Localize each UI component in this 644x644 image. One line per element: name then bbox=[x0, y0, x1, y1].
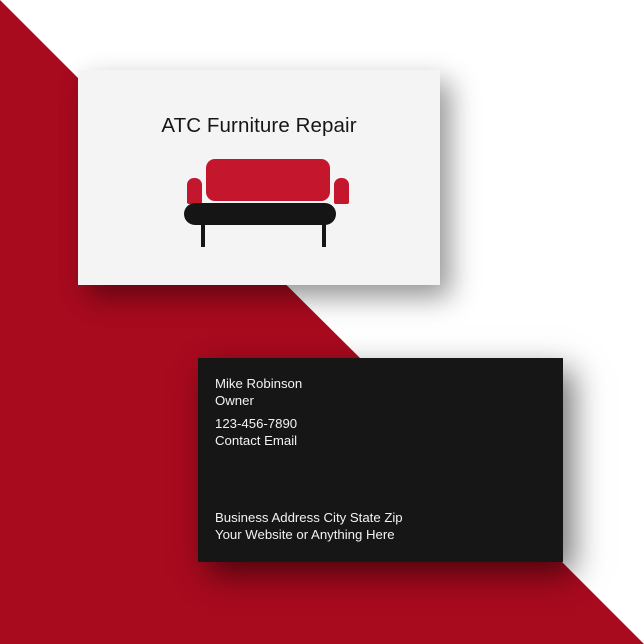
business-card-front[interactable]: ATC Furniture Repair bbox=[78, 70, 440, 285]
sofa-left-leg-shape bbox=[201, 221, 205, 247]
contact-person-title: Owner bbox=[215, 393, 302, 410]
sofa-backrest-shape bbox=[206, 159, 330, 201]
business-card-back[interactable]: Mike Robinson Owner 123-456-7890 Contact… bbox=[198, 358, 563, 562]
address-block: Business Address City State Zip Your Web… bbox=[215, 510, 403, 543]
contact-name-block: Mike Robinson Owner bbox=[215, 376, 302, 409]
sofa-left-arm-shape bbox=[187, 178, 202, 204]
contact-details-block: 123-456-7890 Contact Email bbox=[215, 416, 297, 449]
business-address: Business Address City State Zip bbox=[215, 510, 403, 527]
sofa-right-leg-shape bbox=[322, 221, 326, 247]
business-website[interactable]: Your Website or Anything Here bbox=[215, 527, 403, 544]
sofa-seat-shape bbox=[184, 203, 336, 225]
sofa-icon bbox=[181, 159, 351, 234]
contact-phone[interactable]: 123-456-7890 bbox=[215, 416, 297, 433]
sofa-right-arm-shape bbox=[334, 178, 349, 204]
front-card-title: ATC Furniture Repair bbox=[78, 114, 440, 138]
contact-person-name: Mike Robinson bbox=[215, 376, 302, 393]
business-card-mockup: ATC Furniture Repair Mike Robinson Owner… bbox=[0, 0, 644, 644]
contact-email[interactable]: Contact Email bbox=[215, 433, 297, 450]
